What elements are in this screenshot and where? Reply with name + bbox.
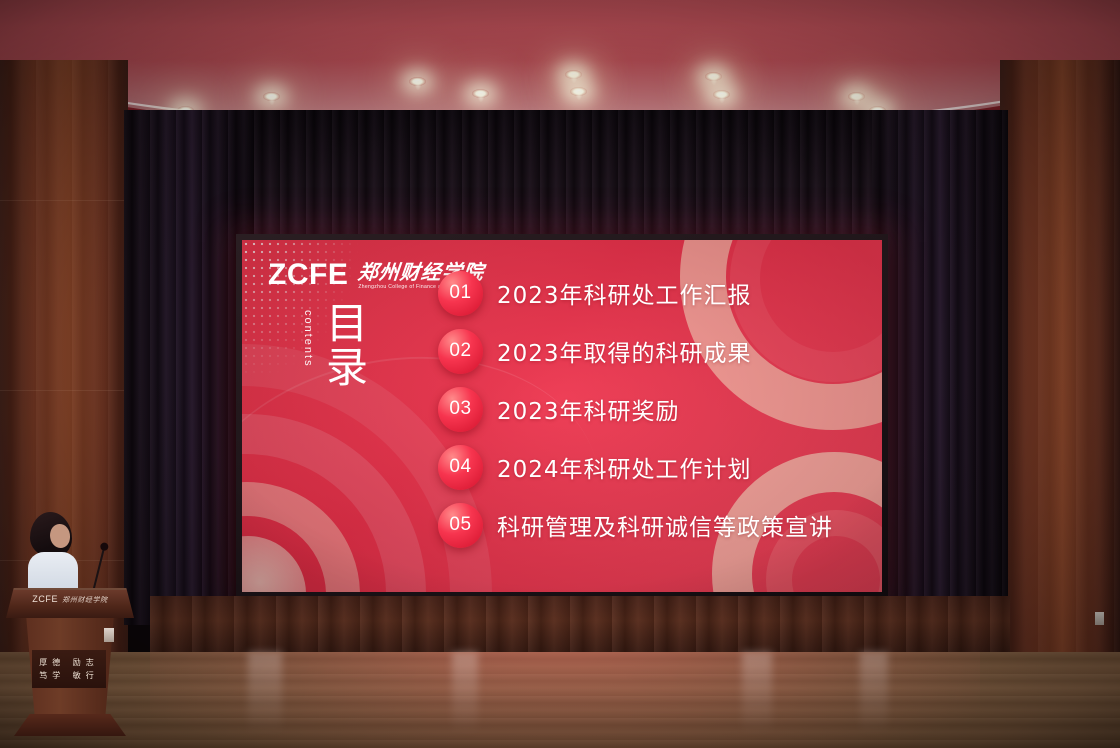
ceiling-spotlight [713, 90, 730, 99]
brand-acronym: ZCFE [268, 260, 348, 290]
floor-light-beam [248, 652, 282, 748]
toc-number-badge: 04 [438, 445, 483, 490]
podium: ZCFE 郑州财经学院 厚德 励志 笃学 敏行 [6, 588, 134, 748]
stage-back-wall [150, 596, 1010, 658]
ceiling-spotlight [848, 92, 865, 101]
toc-item-label: 2023年取得的科研成果 [497, 334, 752, 368]
slide-title-char-1: 目 [326, 302, 370, 346]
toc-item[interactable]: 03 2023年科研奖励 [438, 380, 882, 438]
podium-motto-line-2: 笃学 敏行 [39, 670, 99, 681]
toc-number-badge: 03 [438, 387, 483, 432]
podium-chinese-name: 郑州财经学院 [62, 595, 108, 605]
right-wall-grain [1000, 60, 1120, 660]
stage-floor [0, 652, 1120, 748]
slide-title-column: contents 目 录 [302, 302, 370, 390]
toc-item-label: 2023年科研奖励 [497, 392, 680, 426]
left-wall-joint [0, 390, 128, 391]
curtain-folds [124, 110, 254, 625]
ceiling-spotlight [409, 77, 426, 86]
toc-number-badge: 01 [438, 271, 483, 316]
podium-motto-line-1: 厚德 励志 [39, 657, 99, 668]
led-screen-frame: ZCFE 郑州财经学院 Zhengzhou College of Finance… [236, 234, 888, 598]
presentation-slide[interactable]: ZCFE 郑州财经学院 Zhengzhou College of Finance… [242, 240, 882, 592]
slide-title-cn: 目 录 [326, 302, 370, 390]
toc-number-badge: 02 [438, 329, 483, 374]
ceiling-spotlight [565, 70, 582, 79]
right-wood-wall [1000, 60, 1120, 660]
toc-item-label: 2023年科研处工作汇报 [497, 276, 752, 310]
floor-light-beam [452, 652, 478, 748]
curtain-folds [872, 110, 1008, 610]
ceiling-spotlight [705, 72, 722, 81]
toc-item[interactable]: 05 科研管理及科研诚信等政策宣讲 [438, 496, 882, 554]
toc-item[interactable]: 04 2024年科研处工作计划 [438, 438, 882, 496]
podium-acronym: ZCFE [32, 594, 58, 604]
stage-curtain-right [872, 110, 1008, 610]
contents-label: contents [302, 310, 314, 368]
wall-plate [1095, 612, 1104, 625]
ceiling-spotlight [472, 89, 489, 98]
toc-item[interactable]: 02 2023年取得的科研成果 [438, 322, 882, 380]
ceiling-spotlight [570, 87, 587, 96]
toc-item[interactable]: 01 2023年科研处工作汇报 [438, 264, 882, 322]
toc-item-label: 科研管理及科研诚信等政策宣讲 [497, 508, 833, 542]
toc-number-badge: 05 [438, 503, 483, 548]
speaker-face [50, 524, 70, 548]
toc-item-label: 2024年科研处工作计划 [497, 450, 752, 484]
floor-light-beam [860, 652, 888, 748]
ceiling-spotlight [263, 92, 280, 101]
podium-logo: ZCFE 郑州财经学院 [6, 594, 134, 605]
auditorium-scene: ZCFE 郑州财经学院 Zhengzhou College of Finance… [0, 0, 1120, 748]
podium-badge [104, 628, 114, 642]
floor-light-beam [742, 652, 772, 748]
back-wall-grain [150, 596, 1010, 658]
table-of-contents: 01 2023年科研处工作汇报 02 2023年取得的科研成果 03 2023年… [438, 264, 882, 554]
stage-curtain-left [124, 110, 254, 625]
slide-title-char-2: 录 [326, 346, 370, 390]
podium-base [14, 714, 126, 736]
left-wall-joint [0, 200, 128, 201]
podium-motto-plate: 厚德 励志 笃学 敏行 [32, 650, 106, 688]
